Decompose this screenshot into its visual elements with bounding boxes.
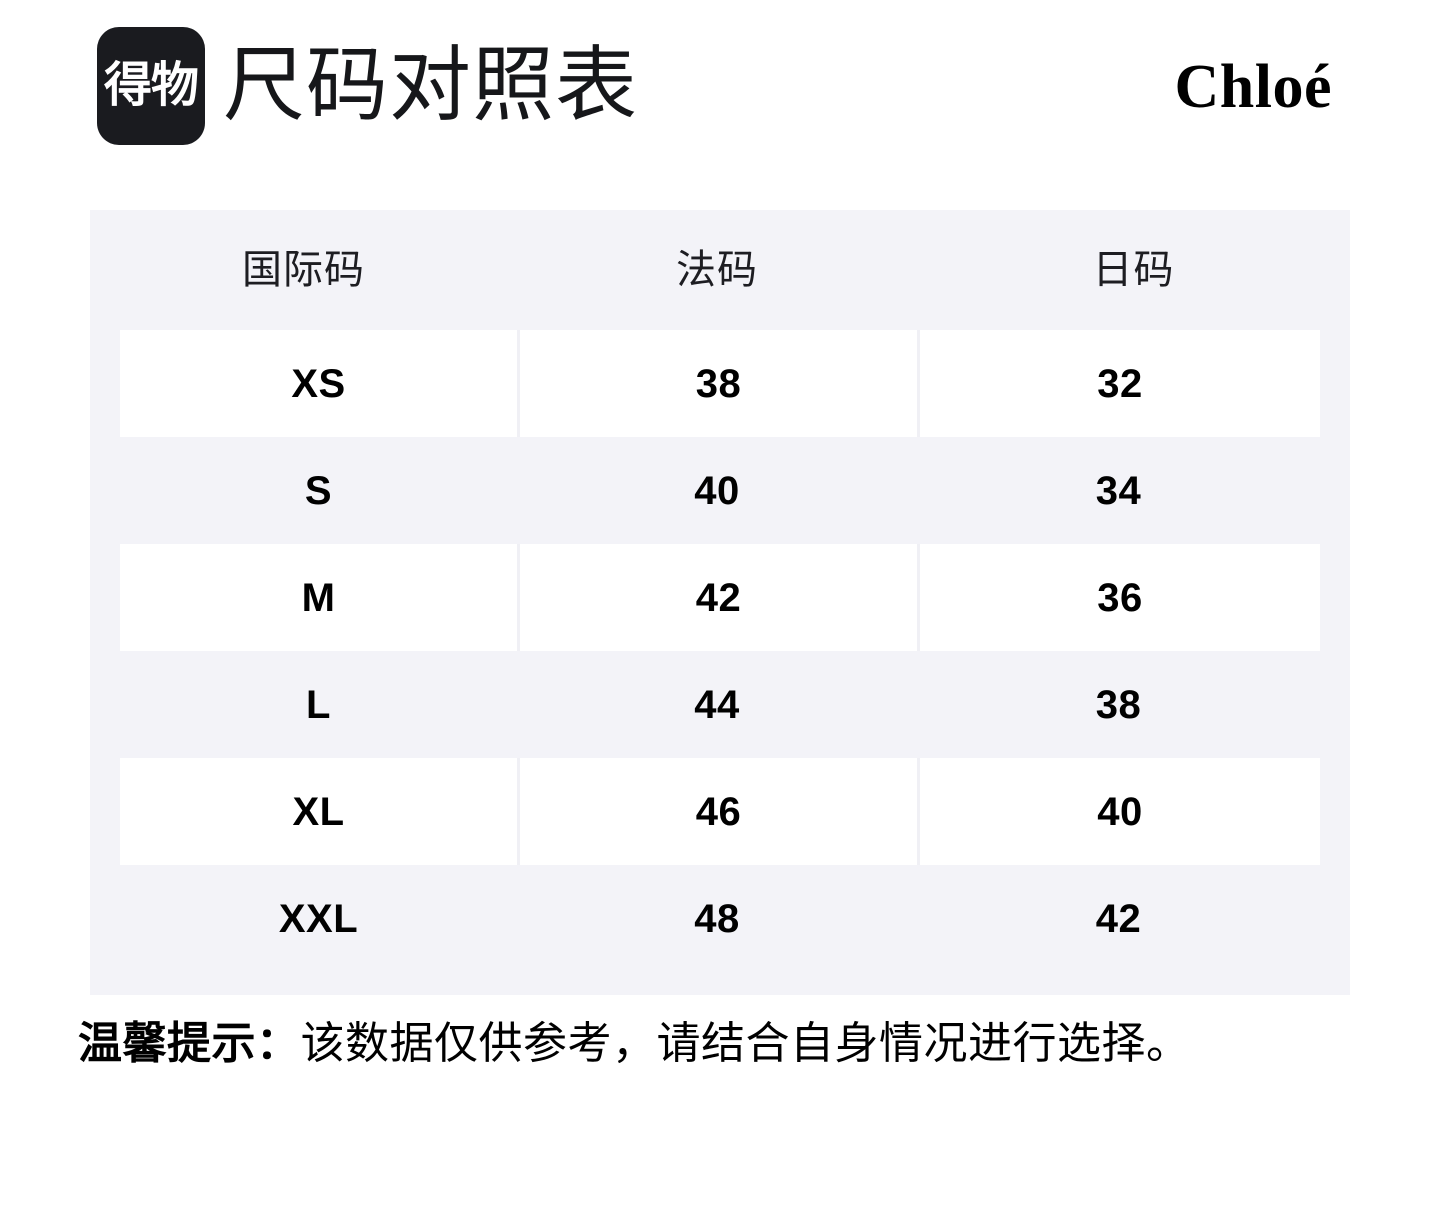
table-row: L 44 38 bbox=[120, 651, 1320, 758]
cell-french: 44 bbox=[517, 651, 917, 758]
cell-french: 42 bbox=[517, 544, 917, 651]
cell-japanese: 42 bbox=[917, 865, 1320, 972]
cell-international: L bbox=[120, 651, 517, 758]
table-row: XL 46 40 bbox=[120, 758, 1320, 865]
size-table-card: 国际码 法码 日码 XS 38 32 S 40 34 M 42 36 L 44 … bbox=[90, 210, 1350, 995]
cell-japanese: 32 bbox=[917, 330, 1320, 437]
cell-french: 40 bbox=[517, 437, 917, 544]
cell-international: S bbox=[120, 437, 517, 544]
cell-french: 38 bbox=[517, 330, 917, 437]
cell-french: 46 bbox=[517, 758, 917, 865]
table-row: M 42 36 bbox=[120, 544, 1320, 651]
column-header-french: 法码 bbox=[517, 246, 917, 294]
table-row: XS 38 32 bbox=[120, 330, 1320, 437]
brand-logo-chloe: Chloé bbox=[1175, 52, 1333, 122]
cell-japanese: 36 bbox=[917, 544, 1320, 651]
cell-japanese: 34 bbox=[917, 437, 1320, 544]
cell-international: XL bbox=[120, 758, 517, 865]
dewu-logo-text: 得物 bbox=[104, 62, 198, 110]
page-header: 得物 尺码对照表 Chloé bbox=[0, 0, 1440, 175]
footer-note-text: 该数据仅供参考，请结合自身情况进行选择。 bbox=[301, 1019, 1191, 1068]
table-header-row: 国际码 法码 日码 bbox=[90, 210, 1350, 330]
column-header-japanese: 日码 bbox=[917, 246, 1350, 294]
table-row: XXL 48 42 bbox=[120, 865, 1320, 972]
cell-japanese: 40 bbox=[917, 758, 1320, 865]
cell-japanese: 38 bbox=[917, 651, 1320, 758]
cell-international: M bbox=[120, 544, 517, 651]
page-title: 尺码对照表 bbox=[223, 36, 638, 136]
footer-note-label: 温馨提示： bbox=[78, 1019, 301, 1068]
cell-french: 48 bbox=[517, 865, 917, 972]
size-chart-page: 得物 尺码对照表 Chloé 国际码 法码 日码 XS 38 32 S 40 3… bbox=[0, 0, 1440, 1215]
dewu-logo-badge: 得物 bbox=[97, 27, 205, 145]
cell-international: XS bbox=[120, 330, 517, 437]
footer-note: 温馨提示：该数据仅供参考，请结合自身情况进行选择。 bbox=[78, 1014, 1191, 1074]
cell-international: XXL bbox=[120, 865, 517, 972]
table-row: S 40 34 bbox=[120, 437, 1320, 544]
column-header-international: 国际码 bbox=[90, 246, 517, 294]
